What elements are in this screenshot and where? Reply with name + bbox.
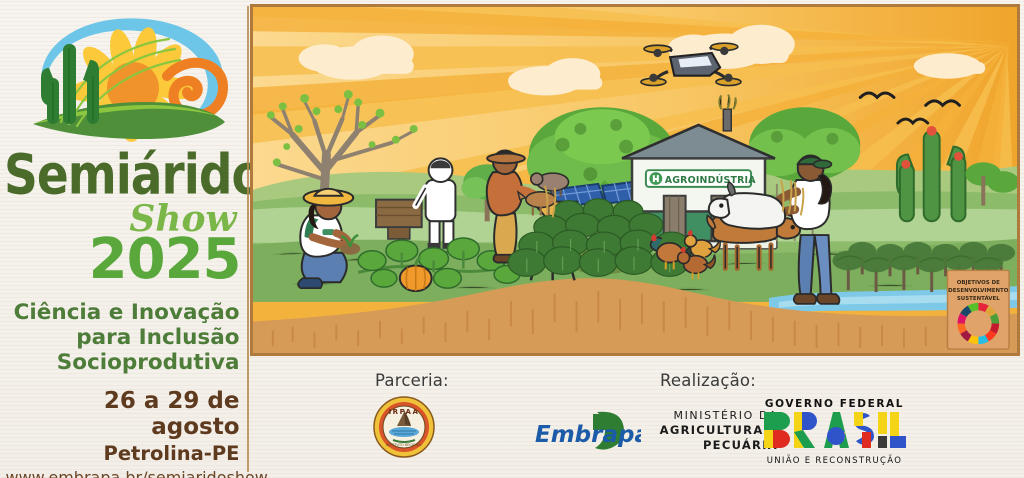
ministry-line-1: MINISTÉRIO DA <box>648 408 778 423</box>
tagline-line-2: para Inclusão <box>9 325 240 350</box>
event-dates: 26 a 29 de agosto <box>9 388 240 440</box>
poster-root: Semiárido Show 2025 Ciência e Inovação p… <box>0 0 1024 478</box>
embrapa-logo[interactable]: Embrapa <box>531 408 641 456</box>
tagline: Ciência e Inovação para Inclusão Sociopr… <box>9 300 240 375</box>
svg-text:INSTITUTO REGIONAL: INSTITUTO REGIONAL <box>386 443 423 447</box>
page-title: Semiárido <box>4 150 244 202</box>
svg-text:Embrapa: Embrapa <box>535 422 641 448</box>
sdg-line-2: DESENVOLVIMENTO <box>948 288 1009 294</box>
gov-tagline: UNIÃO E RECONSTRUÇÃO <box>762 456 907 466</box>
event-city: Petrolina-PE <box>9 442 240 465</box>
vertical-divider <box>247 6 249 472</box>
sdg-line-1: OBJETIVOS DE <box>957 280 1000 286</box>
irpaa-logo[interactable]: IRPAA INSTITUTO REGIONAL <box>373 396 435 458</box>
event-website[interactable]: www.embrapa.br/semiaridoshow <box>6 468 243 478</box>
ministry-line-2: AGRICULTURA E <box>648 423 778 438</box>
ministry-line-3: PECUÁRIA <box>648 438 778 453</box>
brand-column: Semiárido Show 2025 Ciência e Inovação p… <box>0 0 248 478</box>
brasil-wordmark-icon <box>762 410 907 450</box>
governo-federal-brasil-logo[interactable]: GOVERNO FEDERAL <box>762 398 907 464</box>
gov-federal-label: GOVERNO FEDERAL <box>762 398 907 410</box>
ministry-agriculture-logo[interactable]: MINISTÉRIO DA AGRICULTURA E PECUÁRIA <box>648 408 778 456</box>
svg-text:IRPAA: IRPAA <box>389 408 420 416</box>
sdg-line-3: SUSTENTÁVEL <box>957 295 1000 302</box>
semiarido-farm-illustration: AGROINDÚSTRIA <box>250 4 1020 356</box>
tagline-line-3: Socioprodutiva <box>9 350 240 375</box>
footer-logos: Parceria: Realização: IRPAA INSTITUTO RE… <box>250 358 1024 478</box>
title-year: 2025 <box>8 234 241 286</box>
realizacao-label: Realização: <box>660 371 756 390</box>
parceria-label: Parceria: <box>375 371 449 390</box>
tagline-line-1: Ciência e Inovação <box>9 300 240 325</box>
semiarido-show-emblem-icon <box>17 6 232 156</box>
building-sign-text: AGROINDÚSTRIA <box>665 174 757 186</box>
